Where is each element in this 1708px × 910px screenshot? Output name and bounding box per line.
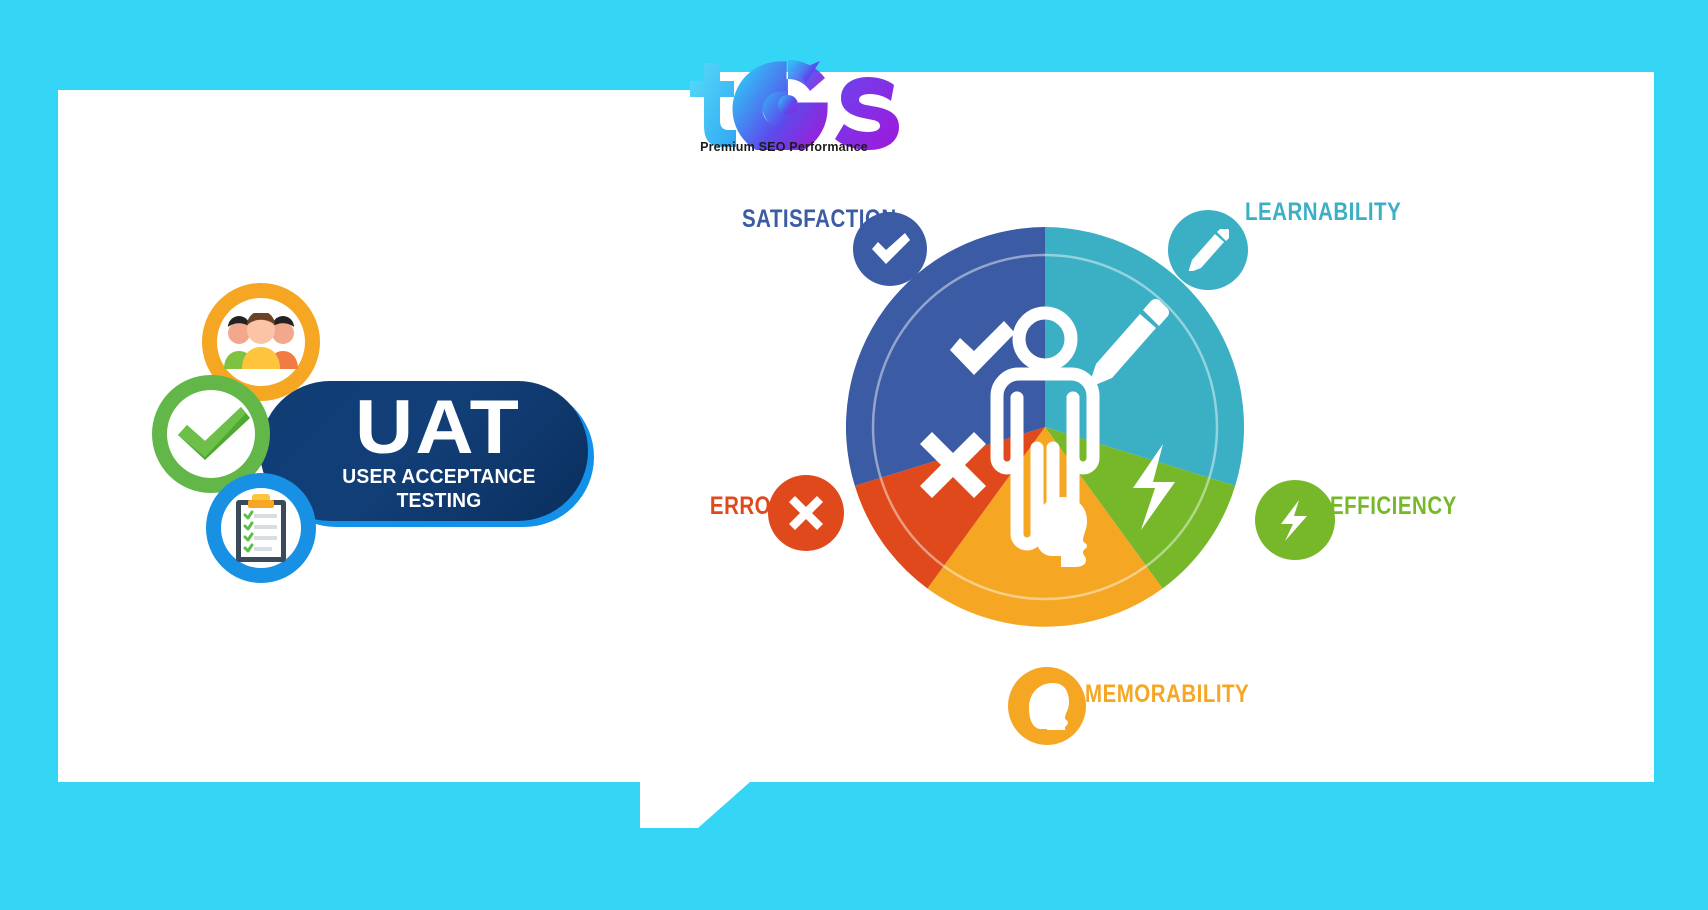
logo-tagline: Premium SEO Performance (679, 140, 889, 154)
label-learnability: LEARNABILITY (1245, 198, 1401, 227)
uat-subtitle: USER ACCEPTANCE TESTING (306, 465, 571, 513)
head-icon (1025, 682, 1069, 730)
poster-canvas: Premium SEO Performance UAT USER ACCEPTA… (0, 0, 1708, 910)
badge-efficiency[interactable] (1255, 480, 1335, 560)
panel-bottom-notch (640, 782, 840, 828)
tos-logo[interactable]: Premium SEO Performance (676, 55, 916, 165)
clipboard-icon (206, 473, 316, 583)
panel-top-notch (58, 40, 758, 90)
usability-wheel-chart: SATISFACTION LEARNABILITY EFFICIENCY MEM… (690, 180, 1450, 760)
x-icon (787, 494, 825, 532)
badge-satisfaction[interactable] (853, 212, 927, 286)
badge-errors[interactable] (768, 475, 844, 551)
label-memorability: MEMORABILITY (1085, 680, 1249, 709)
check-icon (870, 233, 910, 265)
pencil-icon (1187, 229, 1229, 271)
label-efficiency: EFFICIENCY (1330, 492, 1457, 521)
tos-logo-mark (676, 55, 916, 150)
badge-learnability[interactable] (1168, 210, 1248, 290)
bolt-icon (1280, 499, 1310, 541)
badge-memorability[interactable] (1008, 667, 1086, 745)
uat-badge-group: UAT USER ACCEPTANCE TESTING (150, 275, 590, 575)
uat-title: UAT (290, 387, 587, 469)
